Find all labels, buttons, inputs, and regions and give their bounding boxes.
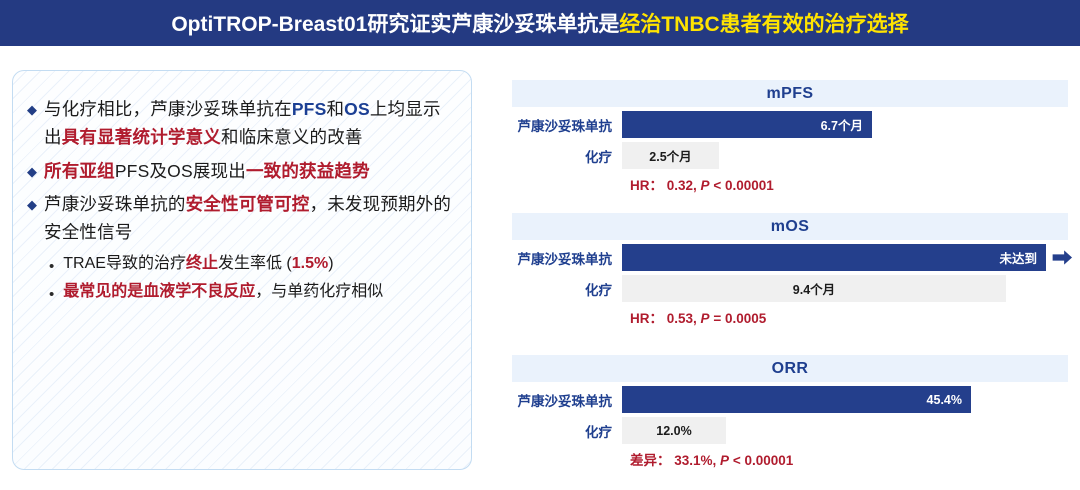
bar-category-label: 化疗 [512, 279, 622, 299]
statistic-annotation-mpfs: HR： 0.32, P < 0.00001 [630, 174, 1068, 194]
bar-row: 芦康沙妥珠单抗未达到 [512, 244, 1068, 271]
bar-value-label: 2.5个月 [649, 146, 691, 165]
bar-mpfs-treatment: 6.7个月 [622, 111, 872, 138]
bullet-segment: 具有显著统计学意义 [62, 127, 221, 147]
bullet-efficacy: ◆与化疗相比，芦康沙妥珠单抗在PFS和OS上均显示出具有显著统计学意义和临床意义… [27, 95, 455, 152]
bullet-subgroups: ◆所有亚组PFS及OS展现出一致的获益趋势 [27, 157, 455, 185]
bar-mos-treatment: 未达到 [622, 244, 1046, 271]
bar-track: 12.0% [622, 417, 1068, 444]
metric-block-mos: mOS芦康沙妥珠单抗未达到化疗9.4个月HR： 0.53, P = 0.0005 [512, 213, 1068, 327]
stat-separator: , [713, 453, 721, 468]
metric-title-mpfs: mPFS [512, 80, 1068, 107]
stat-value: 0.53 [663, 311, 693, 326]
bullet-segment: 一致的获益趋势 [246, 161, 370, 181]
bar-value-label: 6.7个月 [821, 115, 863, 134]
bar-value-label: 未达到 [999, 248, 1037, 267]
bar-category-label: 化疗 [512, 421, 622, 441]
bullet-segment: OS [344, 99, 370, 119]
bar-track: 6.7个月 [622, 111, 1068, 138]
sub-bullet-segment: 1.5% [292, 255, 328, 272]
stat-p-value: < 0.00001 [729, 453, 793, 468]
bullet-segment: PFS及OS展现出 [115, 161, 246, 181]
sub-bullet-segment: ) [328, 255, 333, 272]
bullet-segment: 和 [326, 99, 344, 119]
bullet-segment: 安全性可管可控 [186, 194, 310, 214]
bullet-text: 所有亚组PFS及OS展现出一致的获益趋势 [44, 157, 370, 185]
slide-title-bar: OptiTROP-Breast01研究证实芦康沙妥珠单抗是经治TNBC患者有效的… [0, 0, 1080, 46]
dot-bullet-icon: • [49, 287, 54, 302]
stat-p-symbol: P [701, 311, 710, 326]
stat-separator: , [693, 178, 701, 193]
sub-bullet-segment: ，与单药化疗相似 [255, 283, 383, 300]
bar-mos-chemo: 9.4个月 [622, 275, 1006, 302]
title-plain-part: OptiTROP-Breast01研究证实芦康沙妥珠单抗是 [171, 13, 619, 36]
stat-value: 33.1% [671, 453, 713, 468]
bar-track: 未达到 [622, 244, 1068, 271]
stat-p-symbol: P [720, 453, 729, 468]
bar-row: 化疗12.0% [512, 417, 1068, 444]
diamond-bullet-icon: ◆ [27, 103, 37, 116]
bar-value-label: 12.0% [656, 424, 691, 438]
dot-bullet-icon: • [49, 259, 54, 274]
conclusions-panel: ◆与化疗相比，芦康沙妥珠单抗在PFS和OS上均显示出具有显著统计学意义和临床意义… [12, 70, 472, 470]
sub-bullet-trae-discontinuation: •TRAE导致的治疗终止发生率低 (1.5%) [49, 252, 455, 277]
sub-bullet-text: 最常见的是血液学不良反应，与单药化疗相似 [63, 280, 383, 305]
right-arrow-icon [1051, 246, 1074, 269]
stat-value: 0.32 [663, 178, 693, 193]
bar-orr-treatment: 45.4% [622, 386, 971, 413]
bar-track: 9.4个月 [622, 275, 1068, 302]
diamond-bullet-icon: ◆ [27, 165, 37, 178]
bar-category-label: 芦康沙妥珠单抗 [512, 115, 622, 135]
sub-bullet-segment: 终止 [186, 255, 218, 272]
sub-bullet-segment: TRAE导致的治疗 [63, 255, 186, 272]
bar-category-label: 芦康沙妥珠单抗 [512, 248, 622, 268]
bar-row: 芦康沙妥珠单抗45.4% [512, 386, 1068, 413]
sub-bullet-text: TRAE导致的治疗终止发生率低 (1.5%) [63, 252, 333, 277]
title-highlight-part: 经治TNBC患者有效的治疗选择 [619, 13, 908, 36]
bullet-segment: 所有亚组 [44, 161, 115, 181]
stat-prefix: HR： [630, 311, 663, 326]
bar-value-label: 45.4% [927, 393, 962, 407]
bar-category-label: 化疗 [512, 146, 622, 166]
stat-p-value: = 0.0005 [710, 311, 767, 326]
bullet-segment: PFS [292, 99, 327, 119]
stat-prefix: HR： [630, 178, 663, 193]
bullet-segment: 芦康沙妥珠单抗的 [44, 194, 186, 214]
metric-block-mpfs: mPFS芦康沙妥珠单抗6.7个月化疗2.5个月HR： 0.32, P < 0.0… [512, 80, 1068, 194]
bullet-segment: 与化疗相比，芦康沙妥珠单抗在 [44, 99, 292, 119]
bar-track: 2.5个月 [622, 142, 1068, 169]
bullet-safety: ◆芦康沙妥珠单抗的安全性可管可控，未发现预期外的安全性信号 [27, 190, 455, 247]
metric-title-mos: mOS [512, 213, 1068, 240]
page-title: OptiTROP-Breast01研究证实芦康沙妥珠单抗是经治TNBC患者有效的… [171, 8, 908, 38]
bullet-text: 芦康沙妥珠单抗的安全性可管可控，未发现预期外的安全性信号 [44, 190, 455, 247]
sub-bullet-hematologic-ae: •最常见的是血液学不良反应，与单药化疗相似 [49, 280, 455, 305]
sub-bullet-segment: 发生率低 ( [218, 255, 292, 272]
bullet-text: 与化疗相比，芦康沙妥珠单抗在PFS和OS上均显示出具有显著统计学意义和临床意义的… [44, 95, 455, 152]
diamond-bullet-icon: ◆ [27, 198, 37, 211]
bar-row: 化疗2.5个月 [512, 142, 1068, 169]
stat-prefix: 差异： [630, 453, 671, 468]
stat-p-value: < 0.00001 [710, 178, 774, 193]
stat-separator: , [693, 311, 701, 326]
bar-value-label: 9.4个月 [793, 279, 835, 298]
metric-block-orr: ORR芦康沙妥珠单抗45.4%化疗12.0%差异： 33.1%, P < 0.0… [512, 355, 1068, 469]
statistic-annotation-mos: HR： 0.53, P = 0.0005 [630, 307, 1068, 327]
bar-track: 45.4% [622, 386, 1068, 413]
bar-row: 化疗9.4个月 [512, 275, 1068, 302]
bullet-segment: 和临床意义的改善 [221, 127, 363, 147]
statistic-annotation-orr: 差异： 33.1%, P < 0.00001 [630, 449, 1068, 469]
bar-category-label: 芦康沙妥珠单抗 [512, 390, 622, 410]
bar-row: 芦康沙妥珠单抗6.7个月 [512, 111, 1068, 138]
sub-bullet-segment: 最常见的是血液学不良反应 [63, 283, 255, 300]
stat-p-symbol: P [701, 178, 710, 193]
bar-mpfs-chemo: 2.5个月 [622, 142, 719, 169]
bar-orr-chemo: 12.0% [622, 417, 726, 444]
metric-title-orr: ORR [512, 355, 1068, 382]
